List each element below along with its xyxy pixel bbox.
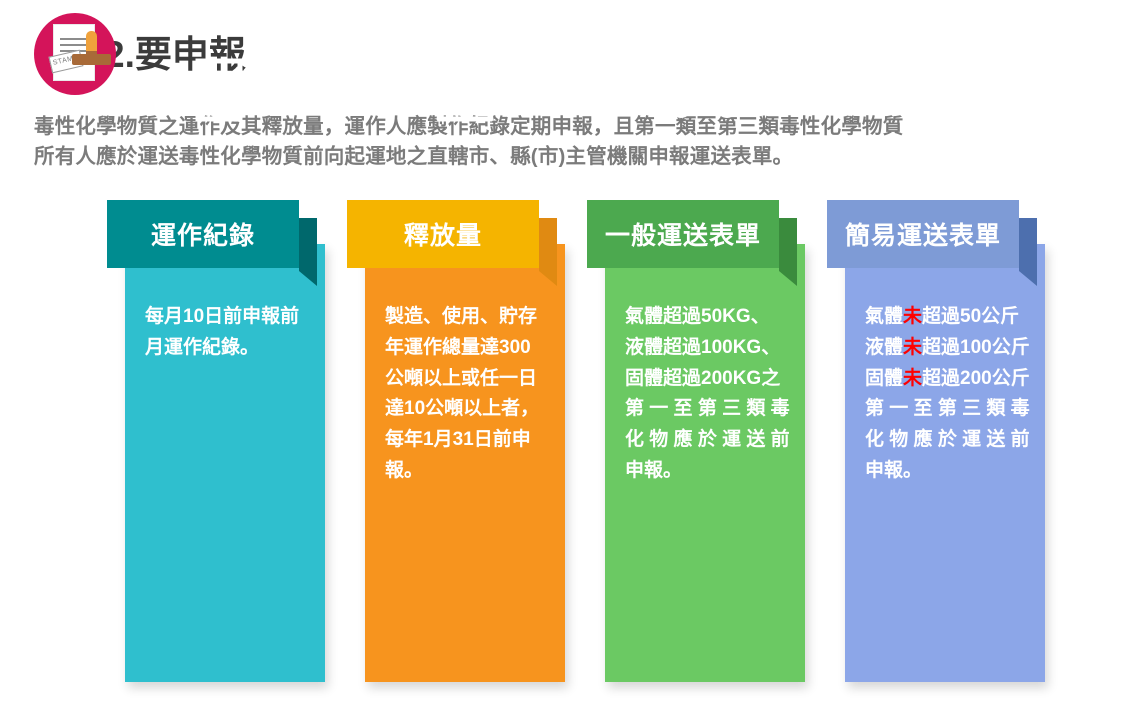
card-description-line: 液體超過100KG、 bbox=[625, 333, 793, 364]
highlight-text: 未 bbox=[903, 337, 922, 358]
plain-text: 每年1月31日前申 bbox=[385, 429, 531, 450]
plain-text: 超過100公斤 bbox=[922, 337, 1030, 358]
card-title: 運作紀錄 bbox=[151, 216, 255, 252]
card-description: 製造、使用、貯存年運作總量達300公噸以上或任一日達10公噸以上者，每年1月31… bbox=[385, 302, 553, 487]
plain-text: 氣體 bbox=[865, 306, 903, 327]
card-description-line: 報。 bbox=[385, 456, 553, 487]
card-title: 簡易運送表單 bbox=[845, 216, 1001, 252]
card-description: 氣體未超過50公斤液體未超過100公斤固體未超過200公斤第 一 至 第 三 類… bbox=[865, 302, 1033, 487]
card-banner: 運作紀錄 bbox=[107, 200, 299, 268]
card-title: 釋放量 bbox=[404, 216, 482, 252]
card-description-line: 年運作總量達300 bbox=[385, 333, 553, 364]
card-divider bbox=[645, 138, 765, 140]
intro-line-2: 所有人應於運送毒性化學物質前向起運地之直轄市、縣(市)主管機關申報運送表單。 bbox=[34, 142, 1124, 172]
card-description-line: 月運作紀錄。 bbox=[145, 333, 313, 364]
card-divider bbox=[885, 138, 1005, 140]
card-description-line: 申報。 bbox=[625, 456, 793, 487]
svg-text:KG: KG bbox=[915, 79, 943, 100]
plain-text: 化 物 應 於 運 送 前 bbox=[625, 429, 790, 450]
truck-kg-icon: KG bbox=[659, 62, 751, 122]
card-banner: 釋放量 bbox=[347, 200, 539, 268]
card-description-line: 第 一 至 第 三 類 毒 bbox=[625, 394, 793, 425]
card-description: 氣體超過50KG、液體超過100KG、固體超過200KG之第 一 至 第 三 類… bbox=[625, 302, 793, 487]
plain-text: 年運作總量達300 bbox=[385, 337, 531, 358]
plain-text: 公噸以上或任一日 bbox=[385, 368, 537, 389]
stamp-base bbox=[72, 54, 111, 65]
card-divider bbox=[165, 138, 285, 140]
infographic-page: STAMP 2.要申報 毒性化學物質之運作及其釋放量，運作人應製作紀錄定期申報，… bbox=[0, 0, 1142, 710]
plain-text: 申報。 bbox=[865, 460, 922, 481]
highlight-text: 未 bbox=[903, 306, 922, 327]
card-banner: 簡易運送表單 bbox=[827, 200, 1019, 268]
card-icon-weight-ton-icon: T bbox=[365, 56, 565, 128]
svg-text:T: T bbox=[457, 90, 473, 119]
plain-text: 每月10日前申報前 bbox=[145, 306, 299, 327]
stamp-document-icon: STAMP bbox=[34, 13, 116, 95]
plain-text: 超過200公斤 bbox=[922, 368, 1030, 389]
card-description-line: 化 物 應 於 運 送 前 bbox=[865, 425, 1033, 456]
card-icon-document-pencil-icon bbox=[125, 56, 325, 128]
card-description-line: 製造、使用、貯存 bbox=[385, 302, 553, 333]
card-title: 一般運送表單 bbox=[605, 216, 761, 252]
card-description-line: 第 一 至 第 三 類 毒 bbox=[865, 394, 1033, 425]
truck-kg-icon: KG bbox=[899, 62, 991, 122]
card-description-line: 每年1月31日前申 bbox=[385, 425, 553, 456]
svg-text:KG: KG bbox=[675, 79, 703, 100]
plain-text: 液體 bbox=[865, 337, 903, 358]
card-description-line: 固體超過200KG之 bbox=[625, 364, 793, 395]
card-divider bbox=[405, 138, 525, 140]
highlight-text: 未 bbox=[903, 368, 922, 389]
card-icon-truck-kg-icon: KG bbox=[605, 56, 805, 128]
plain-text: 化 物 應 於 運 送 前 bbox=[865, 429, 1030, 450]
card-description: 每月10日前申報前月運作紀錄。 bbox=[145, 302, 313, 364]
card-description-line: 氣體超過50KG、 bbox=[625, 302, 793, 333]
card-description-line: 申報。 bbox=[865, 456, 1033, 487]
card-description-line: 固體未超過200公斤 bbox=[865, 364, 1033, 395]
card-list: 運作紀錄每月10日前申報前月運作紀錄。 釋放量製造、使用、貯存年運作總量達300… bbox=[0, 196, 1142, 696]
plain-text: 第 一 至 第 三 類 毒 bbox=[625, 398, 790, 419]
plain-text: 第 一 至 第 三 類 毒 bbox=[865, 398, 1030, 419]
card-description-line: 液體未超過100公斤 bbox=[865, 333, 1033, 364]
plain-text: 超過50公斤 bbox=[922, 306, 1019, 327]
plain-text: 液體超過100KG、 bbox=[625, 337, 780, 358]
card-banner: 一般運送表單 bbox=[587, 200, 779, 268]
plain-text: 固體 bbox=[865, 368, 903, 389]
plain-text: 製造、使用、貯存 bbox=[385, 306, 537, 327]
plain-text: 月運作紀錄。 bbox=[145, 337, 259, 358]
weight-ton-icon: T bbox=[429, 59, 501, 125]
card-description-line: 氣體未超過50公斤 bbox=[865, 302, 1033, 333]
plain-text: 固體超過200KG之 bbox=[625, 368, 780, 389]
card-description-line: 公噸以上或任一日 bbox=[385, 364, 553, 395]
card-icon-truck-kg-icon: KG bbox=[845, 56, 1045, 128]
document-pencil-icon bbox=[192, 57, 258, 127]
card-description-line: 化 物 應 於 運 送 前 bbox=[625, 425, 793, 456]
plain-text: 申報。 bbox=[625, 460, 682, 481]
plain-text: 達10公噸以上者， bbox=[385, 398, 539, 419]
card-description-line: 每月10日前申報前 bbox=[145, 302, 313, 333]
card-description-line: 達10公噸以上者， bbox=[385, 394, 553, 425]
plain-text: 報。 bbox=[385, 460, 423, 481]
plain-text: 氣體超過50KG、 bbox=[625, 306, 770, 327]
